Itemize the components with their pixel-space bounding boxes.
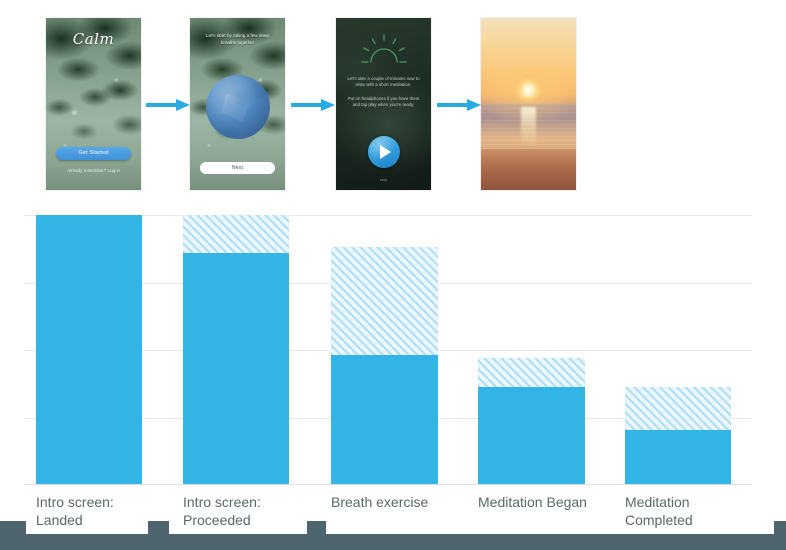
play-button[interactable] [368, 136, 400, 168]
bar-segment-completed[interactable] [478, 387, 585, 484]
skip-link[interactable]: skip [336, 177, 431, 182]
bar-group[interactable] [36, 215, 142, 484]
flow-arrow-icon [291, 98, 335, 112]
bar-category-label: Meditation Completed [625, 493, 771, 529]
footer-tooth [0, 521, 26, 534]
footer-band [0, 534, 786, 550]
breathing-orb [206, 75, 270, 139]
screenshot-meditation-sunset [481, 18, 576, 190]
bar-group[interactable] [183, 215, 289, 484]
log-in-link[interactable]: Already a Member? Log in [56, 166, 131, 176]
bar-category-label: Breath exercise [331, 493, 478, 511]
funnel-bar-chart: Intro screen: LandedIntro screen: Procee… [0, 205, 786, 550]
bar-group[interactable] [478, 215, 585, 484]
sunrise-icon [358, 34, 410, 66]
flow-arrow-icon [437, 98, 481, 112]
sun-reflection [521, 107, 536, 148]
flow-arrow-icon [146, 98, 190, 112]
bar-category-label: Meditation Began [478, 493, 625, 511]
next-button[interactable]: Next [200, 162, 275, 174]
axis-baseline [24, 484, 752, 485]
footer-tooth [307, 521, 326, 534]
sunset-background [481, 18, 576, 190]
meditation-copy-para-1: Let's take a couple of minutes now to re… [347, 76, 419, 87]
bar-segment-completed[interactable] [625, 430, 731, 484]
bar-segment-dropoff[interactable] [478, 358, 585, 388]
onboarding-headline: Let's start by taking a few deep breaths… [200, 33, 275, 46]
get-started-button[interactable]: Get Started [56, 147, 131, 160]
bar-group[interactable] [625, 215, 731, 484]
bar-segment-dropoff[interactable] [331, 247, 438, 355]
onboarding-flow-strip: Calm Get Started Already a Member? Log i… [0, 0, 786, 205]
footer-tooth [148, 521, 169, 534]
meditation-copy-para-2: Put on headphones if you have them and t… [345, 96, 422, 109]
bar-segment-completed[interactable] [331, 355, 438, 484]
bar-segment-completed[interactable] [36, 215, 142, 484]
bar-segment-dropoff[interactable] [625, 387, 731, 430]
footer-tooth [774, 521, 786, 534]
bar-group[interactable] [331, 215, 438, 484]
screenshot-intro-landed: Calm Get Started Already a Member? Log i… [46, 18, 141, 190]
bar-segment-completed[interactable] [183, 253, 289, 484]
screenshot-intro-proceeded: Let's start by taking a few deep breaths… [190, 18, 285, 190]
calm-wordmark: Calm [46, 30, 141, 48]
bar-segment-dropoff[interactable] [183, 215, 289, 253]
meditation-intro-copy: Let's take a couple of minutes now to re… [345, 76, 422, 109]
screenshot-breath-exercise: Let's take a couple of minutes now to re… [336, 18, 431, 190]
